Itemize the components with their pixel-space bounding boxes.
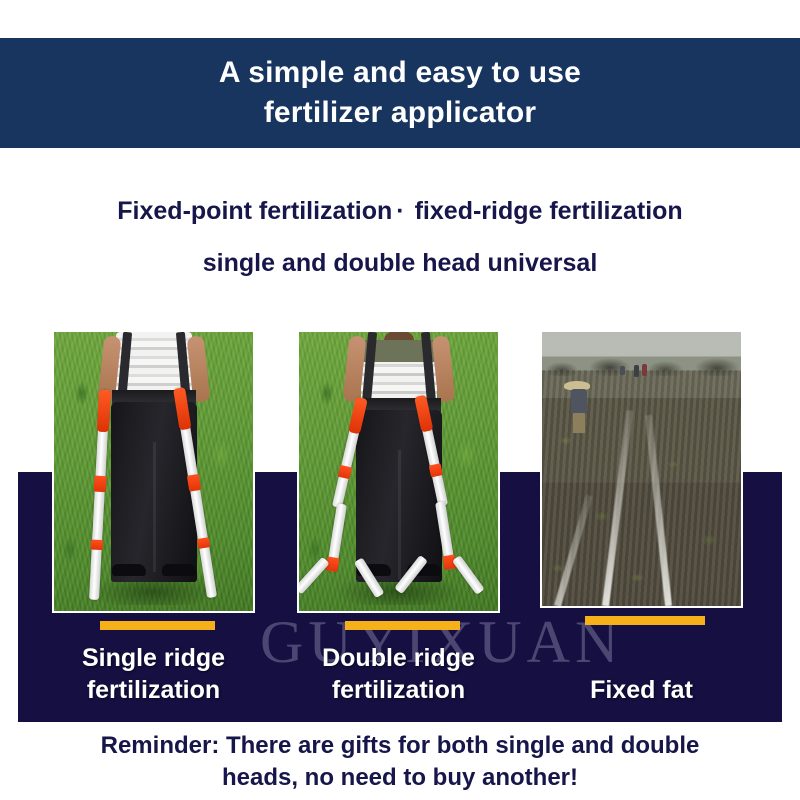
applicator-joint-right-mid bbox=[429, 463, 443, 477]
subtitle-separator-dot: · bbox=[392, 185, 414, 237]
person-shoe-left bbox=[112, 564, 146, 576]
subtitle-line-2: single and double head universal bbox=[0, 237, 800, 289]
caption-accent-bar bbox=[585, 616, 705, 625]
photo-caption-single-ridge: Single ridge fertilization bbox=[42, 642, 265, 706]
photo-card-row: Single ridge fertilization bbox=[0, 330, 800, 630]
applicator-joint-right-lower bbox=[197, 537, 210, 549]
farmer-figure bbox=[568, 381, 590, 433]
distant-figure-2 bbox=[642, 364, 647, 376]
subtitle-block: Fixed-point fertilization·fixed-ridge fe… bbox=[0, 185, 800, 289]
header-title-line-2: fertilizer applicator bbox=[264, 93, 537, 133]
photo-card-double-ridge[interactable]: Double ridge fertilization bbox=[297, 330, 500, 613]
distant-figure-3 bbox=[620, 366, 625, 375]
reminder-block: Reminder: There are gifts for both singl… bbox=[0, 730, 800, 794]
farmer-legs bbox=[573, 413, 585, 433]
photo-caption-fixed-fat: Fixed fat bbox=[530, 674, 753, 706]
distant-figure-1 bbox=[634, 365, 639, 377]
subtitle-fixed-ridge: fixed-ridge fertilization bbox=[415, 197, 683, 225]
caption-line-1: Single ridge bbox=[42, 642, 265, 674]
caption-line-2: fertilization bbox=[42, 674, 265, 706]
farmer-body bbox=[571, 389, 587, 415]
subtitle-line-1: Fixed-point fertilization·fixed-ridge fe… bbox=[0, 185, 800, 237]
applicator-grip-left bbox=[97, 390, 111, 433]
applicator-joint-left-lower bbox=[91, 539, 104, 550]
photo-single-ridge-fertilization bbox=[52, 330, 255, 613]
subtitle-fixed-point: Fixed-point fertilization bbox=[117, 197, 392, 225]
photo-card-single-ridge[interactable]: Single ridge fertilization bbox=[52, 330, 255, 613]
photo-card-fixed-fat[interactable]: Fixed fat bbox=[540, 330, 743, 608]
caption-line-1: Double ridge bbox=[287, 642, 510, 674]
caption-line-1: Fixed fat bbox=[530, 674, 753, 706]
header-title-line-1: A simple and easy to use bbox=[219, 53, 581, 93]
reminder-line-1: Reminder: There are gifts for both singl… bbox=[0, 730, 800, 762]
photo-double-ridge-fertilization bbox=[297, 330, 500, 613]
caption-accent-bar bbox=[345, 621, 460, 630]
applicator-joint-left-upper bbox=[94, 476, 107, 493]
header-banner: A simple and easy to use fertilizer appl… bbox=[0, 38, 800, 148]
applicator-joint-right-upper bbox=[187, 474, 201, 492]
caption-accent-bar bbox=[100, 621, 215, 630]
caption-line-2: fertilization bbox=[287, 674, 510, 706]
photo-caption-double-ridge: Double ridge fertilization bbox=[287, 642, 510, 706]
person-shoe-right bbox=[162, 564, 196, 576]
reminder-line-2: heads, no need to buy another! bbox=[0, 762, 800, 794]
photo-fixed-fat-field bbox=[540, 330, 743, 608]
